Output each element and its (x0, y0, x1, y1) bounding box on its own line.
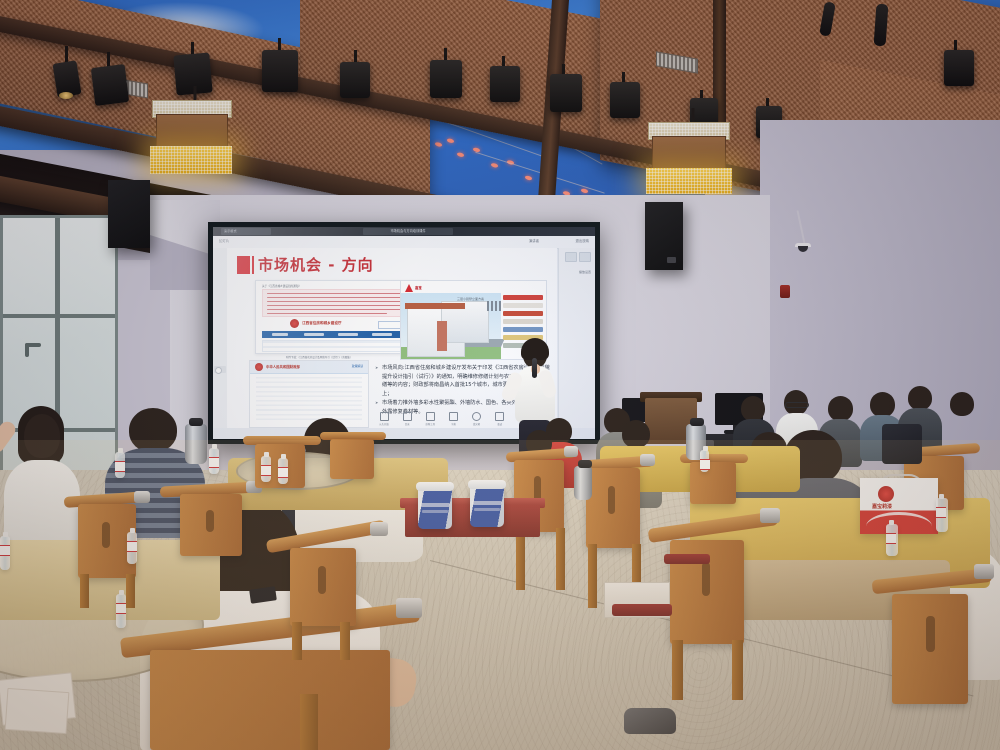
gift-bag-brand-text: 嘉宝莉漆 (872, 503, 892, 510)
toolbar-upload-icon[interactable]: 放映工具 (421, 412, 439, 426)
conference-room-photo: 演示模式 市场机会与方向培训课件 幻灯片 演讲者 退出放映 播放设置 市场机会 … (0, 0, 1000, 750)
vacuum-flask-left (185, 424, 207, 464)
water-bottle-1 (115, 452, 125, 478)
color-swatch-3 (503, 311, 543, 316)
water-bottle-2 (209, 448, 219, 474)
chair-right-2 (872, 558, 992, 750)
vacuum-flask-right (574, 466, 592, 500)
slide-page-dot (215, 367, 222, 374)
chair-cushion-2 (664, 554, 710, 564)
window-title: 市场机会与方向培训课件 (363, 228, 453, 235)
fire-alarm-button[interactable] (780, 285, 790, 298)
toolbar-hierarchy-icon[interactable]: 目录 (398, 412, 416, 426)
presentation-os-topbar: 演示模式 市场机会与方向培训课件 (213, 227, 595, 236)
chair-back-2 (320, 428, 386, 482)
right-rail-label: 播放设置 (579, 270, 591, 274)
toolbar-subtitle-icon[interactable]: 字幕 (444, 412, 462, 426)
gov-notice-header: 关于《江西省城乡建设局的通知》 (262, 284, 301, 288)
os-tab-label: 演示模式 (224, 229, 237, 233)
handout-paper-left-2 (5, 688, 70, 734)
chair-center-1 (266, 520, 386, 660)
color-swatch-5 (503, 327, 543, 332)
water-bottle-3 (261, 456, 271, 482)
ribbon-left-label: 幻灯片 (219, 238, 229, 243)
water-bottle-9 (886, 524, 898, 556)
dark-shoulder-bag (882, 424, 922, 464)
gov-notice-caption: 附件下载：《江西省农房设计及风貌导引（试行）》（含图集） (286, 355, 352, 359)
water-bottle-8 (700, 450, 709, 472)
slide-title-accent-block (237, 256, 250, 274)
color-swatch-2 (503, 303, 543, 308)
eyeglasses-icon (785, 402, 809, 408)
ceiling-speaker-left (108, 180, 150, 248)
render-caption: 三层小别墅立面方案 (457, 297, 484, 301)
gift-bag-arc-graphic (866, 512, 932, 541)
ribbon-exit-button[interactable]: 退出放映 (575, 238, 589, 243)
chair-cushion-1 (612, 604, 672, 616)
brand-name: 嘉宝 (415, 285, 422, 290)
ministry-org-name: 中华人民共和国财政部 (266, 364, 300, 369)
presenter-hair (521, 338, 549, 360)
water-bottle-6 (116, 594, 126, 628)
rr-minimize-icon[interactable] (565, 252, 577, 262)
color-swatch-1 (503, 295, 543, 300)
slide-title-accent-bar (252, 256, 254, 274)
toolbar-laser-pointer-icon[interactable]: 激光笔 (468, 412, 486, 426)
ceiling-speaker-right (645, 202, 683, 270)
dome-security-camera (795, 243, 811, 251)
water-bottle-7 (0, 536, 10, 570)
chair-left-2 (160, 480, 260, 580)
brand-logo-icon (405, 284, 413, 292)
ribbon-presenter-button[interactable]: 演讲者 (529, 238, 539, 243)
water-bottle-10 (936, 498, 948, 532)
gov-org-name: 江西省住房和城乡建设厅 (302, 321, 342, 326)
gov-seal-icon (290, 319, 299, 328)
paint-bucket-1 (418, 487, 452, 529)
water-bottle-5 (127, 532, 137, 564)
handheld-microphone[interactable] (532, 358, 537, 378)
paint-bucket-2 (470, 485, 504, 527)
rr-maximize-icon[interactable] (579, 252, 591, 262)
ministry-policy-button[interactable]: 政策解读 (352, 364, 363, 368)
ministry-seal-icon (255, 363, 263, 371)
water-bottle-4 (278, 458, 288, 484)
window-handle-stem (25, 343, 29, 357)
audience-shoe (624, 708, 676, 734)
slide-title: 市场机会 - 方向 (258, 254, 374, 275)
render-brick-column (437, 321, 447, 351)
ministry-page-body (256, 377, 362, 423)
gift-bag-logo-icon (878, 486, 894, 502)
render-roof (405, 303, 465, 309)
gov-nav-bar[interactable] (262, 331, 422, 338)
slide-left-rail[interactable] (213, 248, 228, 428)
color-swatch-4 (503, 319, 543, 324)
